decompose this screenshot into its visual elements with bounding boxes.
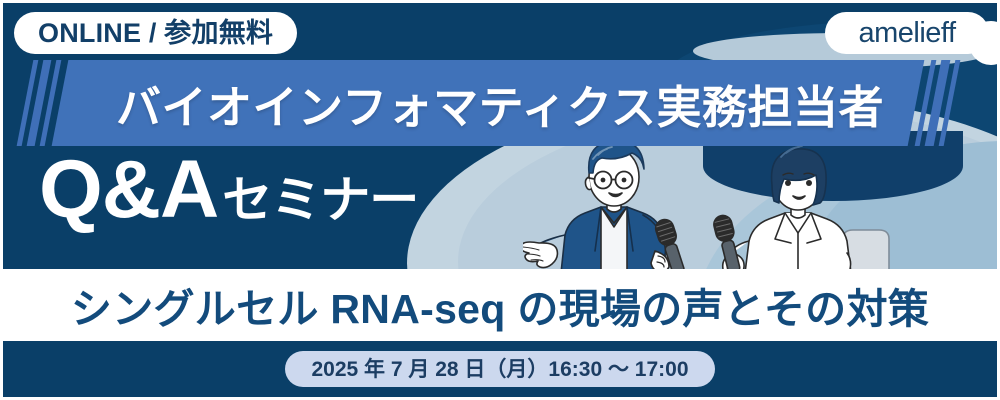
headline: Q&A セミナー xyxy=(39,149,418,231)
brand-logo[interactable]: amelieff xyxy=(825,12,989,54)
footer-strip: 2025 年 7 月 28 日（月）16:30 〜 17:00 xyxy=(3,341,997,397)
banner-canvas: ONLINE / 参加無料 amelieff バイオインフォマティクス実務担当者… xyxy=(3,3,997,397)
schedule-badge: 2025 年 7 月 28 日（月）16:30 〜 17:00 xyxy=(285,351,714,387)
seminar-banner: ONLINE / 参加無料 amelieff バイオインフォマティクス実務担当者… xyxy=(0,0,1000,400)
brand-logo-label: amelieff xyxy=(858,19,955,48)
headline-main: Q&A xyxy=(39,149,218,231)
title-text: バイオインフォマティクス実務担当者 xyxy=(3,60,997,146)
subtitle-text: シングルセル RNA-seq の現場の声とその対策 xyxy=(71,275,929,335)
subtitle-band: シングルセル RNA-seq の現場の声とその対策 xyxy=(3,269,997,341)
schedule-text: 2025 年 7 月 28 日（月）16:30 〜 17:00 xyxy=(311,359,688,380)
online-badge-label: ONLINE / 参加無料 xyxy=(38,20,273,47)
online-badge: ONLINE / 参加無料 xyxy=(14,12,297,54)
title-band: バイオインフォマティクス実務担当者 xyxy=(3,60,997,146)
headline-suffix: セミナー xyxy=(222,175,418,225)
